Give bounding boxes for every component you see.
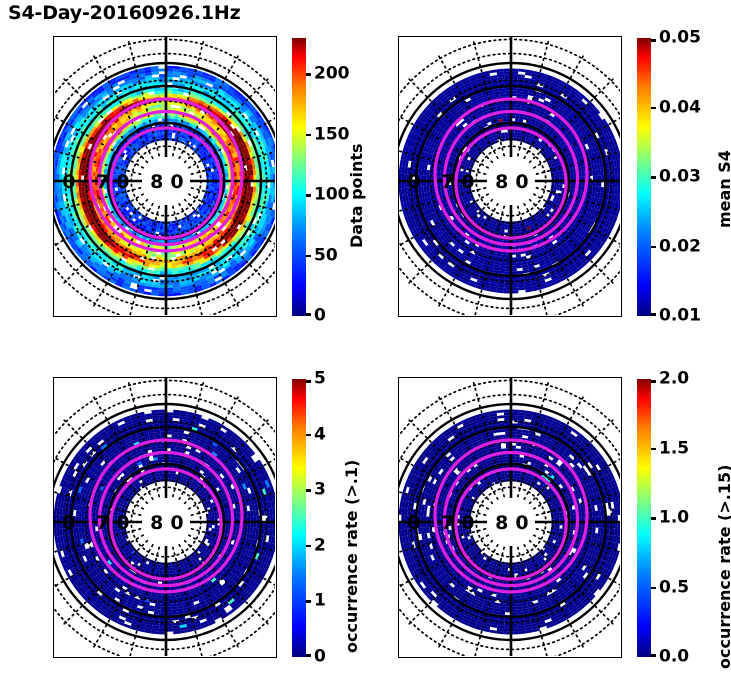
polar-cell [172,224,175,227]
polar-cell [160,132,163,135]
polar-cell [557,175,560,178]
polar-cell [559,184,562,188]
polar-cell [554,172,557,175]
polar-cell [156,133,160,136]
polar-cell [171,254,176,257]
polar-cell [159,129,163,132]
polar-cell [516,254,521,257]
colorbar-tick [651,176,656,179]
polar-cell [514,132,517,135]
polar-cell [253,187,256,193]
polar-cell [503,118,507,121]
polar-cell [514,135,517,138]
polar-cell [505,132,508,135]
polar-labels-1: 60 70 80 [54,171,191,193]
polar-cell [557,184,560,187]
polar-cell [209,172,212,175]
polar-cell [514,224,517,227]
polar-cell [500,94,506,97]
polar-cell [211,171,214,175]
polar-cell [554,187,557,190]
polar-cell [502,246,507,249]
polar-cell [214,171,217,175]
colorbar-tick [306,313,311,316]
colorbar-tick-label: 0.03 [659,169,701,186]
polar-cell [559,171,562,175]
polar-cell [209,184,212,187]
polar-cell [157,246,162,249]
polar-cell [517,265,523,268]
polar-cell [515,246,520,249]
polar-cell [160,227,163,230]
polar-cell [154,91,160,94]
polar-cell [500,262,506,265]
colorbar-tick-label: 0.05 [659,30,701,47]
polar-cell [160,135,163,138]
polar-cell [155,265,161,268]
polar-labels-2: 60 70 80 [399,171,536,193]
polar-cell [501,254,506,257]
polar-plot-data-points: 60 70 80 [53,36,277,317]
polar-cell [505,227,508,230]
polar-cell [156,229,160,232]
polar-cell [172,94,178,97]
polar-cell [514,129,518,132]
polar-cell [156,105,161,108]
polar-cell [225,173,228,177]
polar-cell [554,184,557,187]
polar-cell [559,187,562,191]
polar-cell [517,224,520,227]
colorbar-tick-label: 100 [314,187,350,204]
polar-cell [502,224,505,227]
colorbar-tick [306,194,311,197]
polar-cell [583,96,590,103]
polar-cell [505,135,508,138]
polar-cell [234,185,237,190]
polar-cell [209,175,212,178]
polar-cell [214,187,217,191]
figure-root: S4-Day-20160926.1Hz 60 70 80 05010015020… [0,0,731,674]
polar-cell [517,229,521,232]
polar-cell [172,268,178,271]
colorbar-tick-label: 200 [314,66,350,83]
colorbar-mean-s4: 0.010.020.030.040.05 [637,38,651,316]
polar-cell [489,69,497,73]
polar-cell [502,135,505,138]
polar-cell [274,159,275,167]
polar-cell [559,174,562,178]
polar-cell [160,224,163,227]
polar-cell [172,229,176,232]
polar-cell [172,91,178,94]
colorbar-tick [651,107,656,110]
polar-canvas-3: 60 70 80 [54,378,275,656]
polar-cell [156,254,161,257]
polar-cell [556,171,559,175]
polar-cell [155,262,161,265]
polar-cell [501,105,506,108]
polar-cell [157,116,161,119]
polar-cell [517,133,521,136]
polar-cell [214,174,217,178]
colorbar-tick [306,134,311,137]
polar-cell [169,224,172,227]
colorbar-gradient-1 [292,38,306,316]
polar-cell [556,187,559,191]
polar-cell [144,291,152,295]
polar-cell [157,135,160,138]
colorbar-tick [306,73,311,76]
polar-cell [517,91,523,94]
polar-cell [253,169,256,175]
colorbar-label-mean-s4: mean S4 [717,150,731,228]
polar-cell [505,224,508,227]
polar-plot-occurrence-rate-1: 60 70 80 [53,377,277,658]
colorbar-tick-label: 150 [314,126,350,143]
polar-cell [209,187,212,190]
polar-cell [169,129,173,132]
polar-cell [598,169,601,175]
colorbar-tick [306,255,311,258]
colorbar-tick [651,246,656,249]
polar-cell [157,224,160,227]
colorbar-tick-label: 0.02 [659,238,701,255]
colorbar-tick [651,39,656,42]
polar-cell [517,94,523,97]
polar-cell [516,262,522,265]
page-title: S4-Day-20160926.1Hz [8,2,240,24]
polar-cell [518,69,526,72]
colorbar-label-data-points: Data points [349,143,365,248]
polar-cell [517,271,523,274]
polar-cell [214,184,217,188]
polar-cell [169,229,173,232]
polar-cell [234,172,237,177]
polar-cell [170,116,174,119]
polar-cell [170,246,175,249]
polar-cell [514,227,517,230]
polar-cell [515,118,519,121]
polar-cell [502,116,506,119]
polar-cell [156,226,160,229]
colorbar-data-points: 050100150200 [292,38,306,316]
polar-cell [250,187,253,193]
polar-cell [514,229,518,232]
polar-cell [516,105,521,108]
polar-cell [595,170,598,176]
colorbar-tick-label: 0 [314,308,326,325]
polar-cell [236,171,239,176]
polar-cell [148,270,154,274]
polar-cell [212,175,215,178]
colorbar-tick [651,313,656,316]
polar-cell [169,132,172,135]
polar-cell [570,173,573,177]
polar-cell [554,175,557,178]
polar-cell [169,135,172,138]
polar-cell [172,226,176,229]
polar-cell [211,187,214,191]
polar-cell [595,187,598,193]
polar-cell [517,226,521,229]
polar-canvas-2: 60 70 80 [399,37,620,315]
polar-cell [499,268,505,271]
polar-cell [570,185,573,189]
polar-cell [581,171,584,176]
polar-cell [247,170,250,176]
polar-cell [155,94,161,97]
polar-cell [212,184,215,187]
polar-cell [501,229,505,232]
polar-cell [501,133,505,136]
polar-cell [159,229,163,232]
polar-cell [501,226,505,229]
polar-plot-mean-s4: 60 70 80 [398,36,622,317]
colorbar-tick-label: 0.01 [659,308,701,325]
colorbar-gradient-2 [637,38,651,316]
colorbar-tick-label: 50 [314,247,338,264]
polar-cell [154,268,160,271]
polar-cell [250,170,253,176]
polar-canvas-1: 60 70 80 [54,37,275,315]
polar-cell [598,187,601,193]
polar-cell [579,185,582,190]
polar-cell [579,172,582,177]
polar-cell [500,265,506,268]
colorbar-tick-label: 0.04 [659,99,701,116]
polar-cell [247,186,250,192]
polar-cell [592,186,595,192]
polar-cell [592,170,595,176]
polar-cell [171,262,177,265]
radial-tick-labels: 60 70 80 [54,171,191,193]
radial-tick-labels: 60 70 80 [399,171,536,193]
polar-cell [170,118,174,121]
polar-cell [517,135,520,138]
polar-cell [499,91,505,94]
polar-cell [169,227,172,230]
polar-cell [172,265,178,268]
polar-cell [515,116,519,119]
